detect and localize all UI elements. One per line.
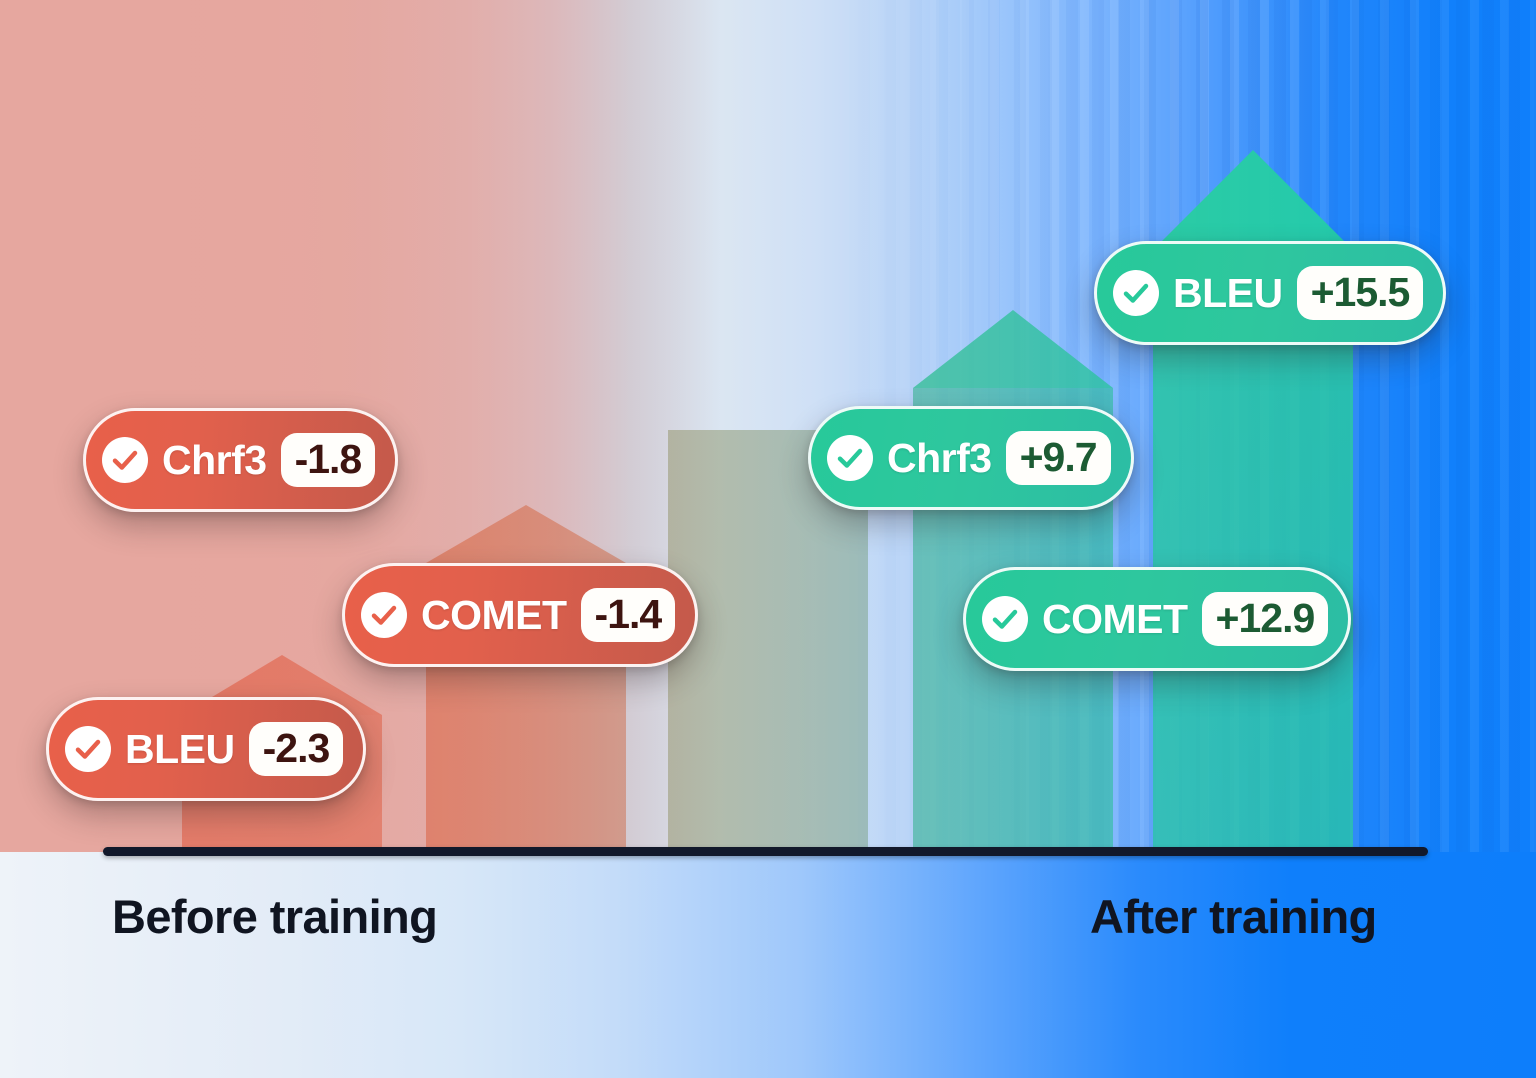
- caption-before-training: Before training: [112, 889, 437, 944]
- pill-metric-label: Chrf3: [162, 437, 267, 484]
- check-circle-icon: [361, 592, 407, 638]
- pill-bleu-after[interactable]: BLEU +15.5: [1094, 241, 1446, 345]
- check-circle-icon: [827, 435, 873, 481]
- pill-metric-label: BLEU: [125, 726, 235, 773]
- check-circle-icon: [65, 726, 111, 772]
- background-bottom-wash: [0, 852, 1536, 1078]
- pill-value-badge: +12.9: [1202, 592, 1329, 646]
- pill-metric-label: COMET: [1042, 596, 1188, 643]
- pill-metric-label: BLEU: [1173, 270, 1283, 317]
- pill-comet-after[interactable]: COMET +12.9: [963, 567, 1351, 671]
- baseline-axis: [103, 847, 1428, 856]
- pill-chrf3-before[interactable]: Chrf3 -1.8: [83, 408, 398, 512]
- pill-bleu-before[interactable]: BLEU -2.3: [46, 697, 366, 801]
- check-circle-icon: [982, 596, 1028, 642]
- pill-metric-label: COMET: [421, 592, 567, 639]
- pill-value-badge: +9.7: [1006, 431, 1111, 485]
- infographic-canvas: Before training After training Chrf3 -1.…: [0, 0, 1536, 1078]
- pill-value-badge: -1.8: [281, 433, 376, 487]
- pill-comet-before[interactable]: COMET -1.4: [342, 563, 698, 667]
- pill-value-badge: -1.4: [581, 588, 676, 642]
- pill-value-badge: +15.5: [1297, 266, 1424, 320]
- arrow-head-4: [913, 310, 1113, 388]
- pill-chrf3-after[interactable]: Chrf3 +9.7: [808, 406, 1134, 510]
- caption-after-training: After training: [1090, 889, 1377, 944]
- arrow-head-5: [1153, 150, 1353, 250]
- check-circle-icon: [102, 437, 148, 483]
- pill-metric-label: Chrf3: [887, 435, 992, 482]
- arrow-head-2: [426, 505, 626, 563]
- check-circle-icon: [1113, 270, 1159, 316]
- pill-value-badge: -2.3: [249, 722, 344, 776]
- arrow-bar-2: [426, 505, 626, 852]
